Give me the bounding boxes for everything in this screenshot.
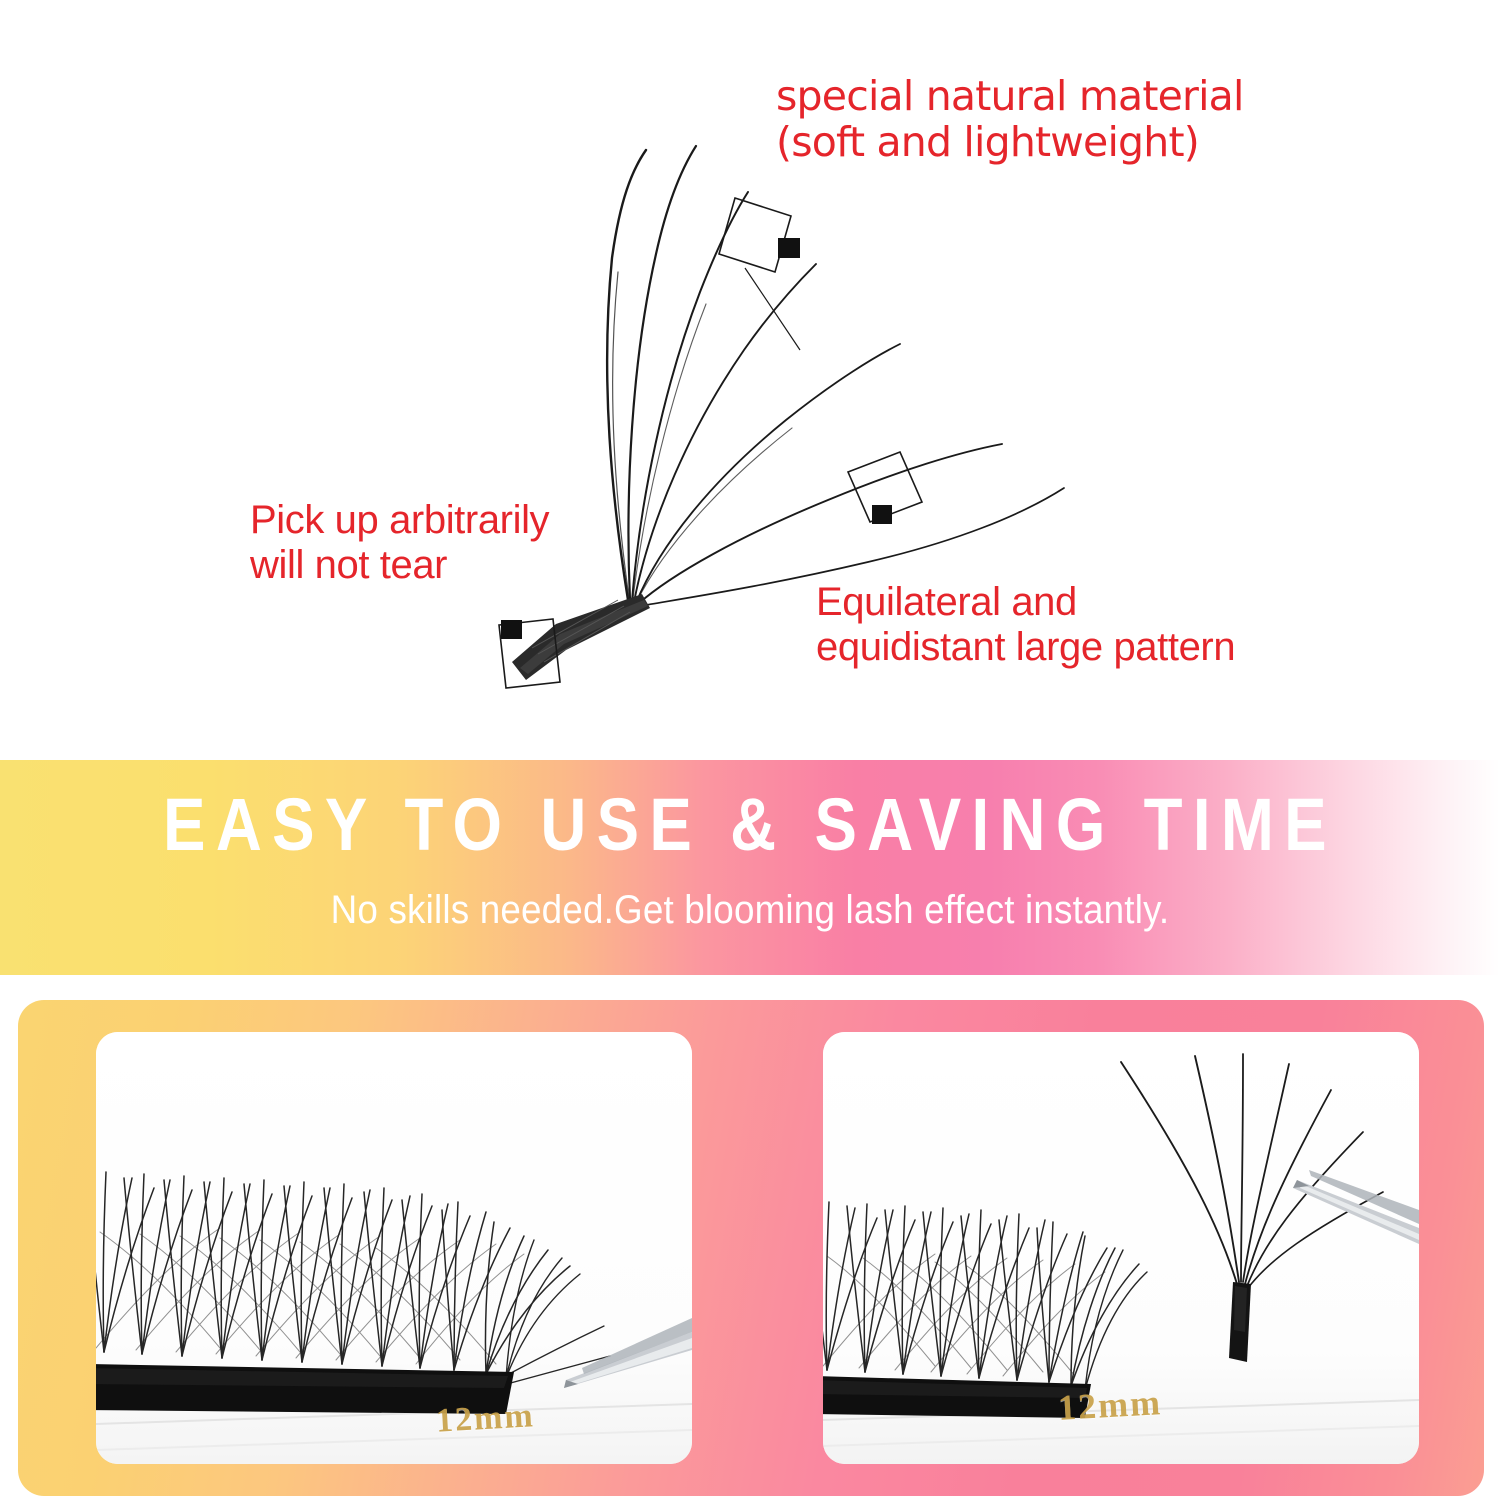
photo-label-12mm-right: 12mm <box>1057 1381 1163 1429</box>
lash-fiber-5b <box>637 428 792 601</box>
headline-banner: EASY TO USE & SAVING TIME No skills need… <box>0 760 1500 975</box>
banner-subtitle: No skills needed.Get blooming lash effec… <box>60 888 1440 933</box>
banner-title: EASY TO USE & SAVING TIME <box>105 782 1395 867</box>
lash-tray-photo-graphic <box>96 1032 692 1464</box>
callout-pick-up-arbitrarily: Pick up arbitrarily will not tear <box>250 498 549 588</box>
lash-tray-with-tweezers-photo[interactable]: 12mm <box>96 1032 692 1464</box>
lash-fiber-4 <box>634 264 816 602</box>
lash-fan-lifted-photo[interactable]: 12mm <box>823 1032 1419 1464</box>
feature-diagram-section: special natural material (soft and light… <box>0 0 1500 760</box>
lash-fan-diagram <box>0 0 1500 760</box>
lash-fan-base <box>512 594 650 680</box>
photo-label-12mm-left: 12mm <box>435 1397 536 1440</box>
lash-fiber-3b <box>633 304 706 599</box>
callout-equilateral-equidistant: Equilateral and equidistant large patter… <box>816 580 1235 670</box>
lash-fiber-2 <box>628 146 696 600</box>
photo-gallery-panel: 12mm <box>18 1000 1484 1496</box>
callout-special-natural-material: special natural material (soft and light… <box>776 74 1244 166</box>
